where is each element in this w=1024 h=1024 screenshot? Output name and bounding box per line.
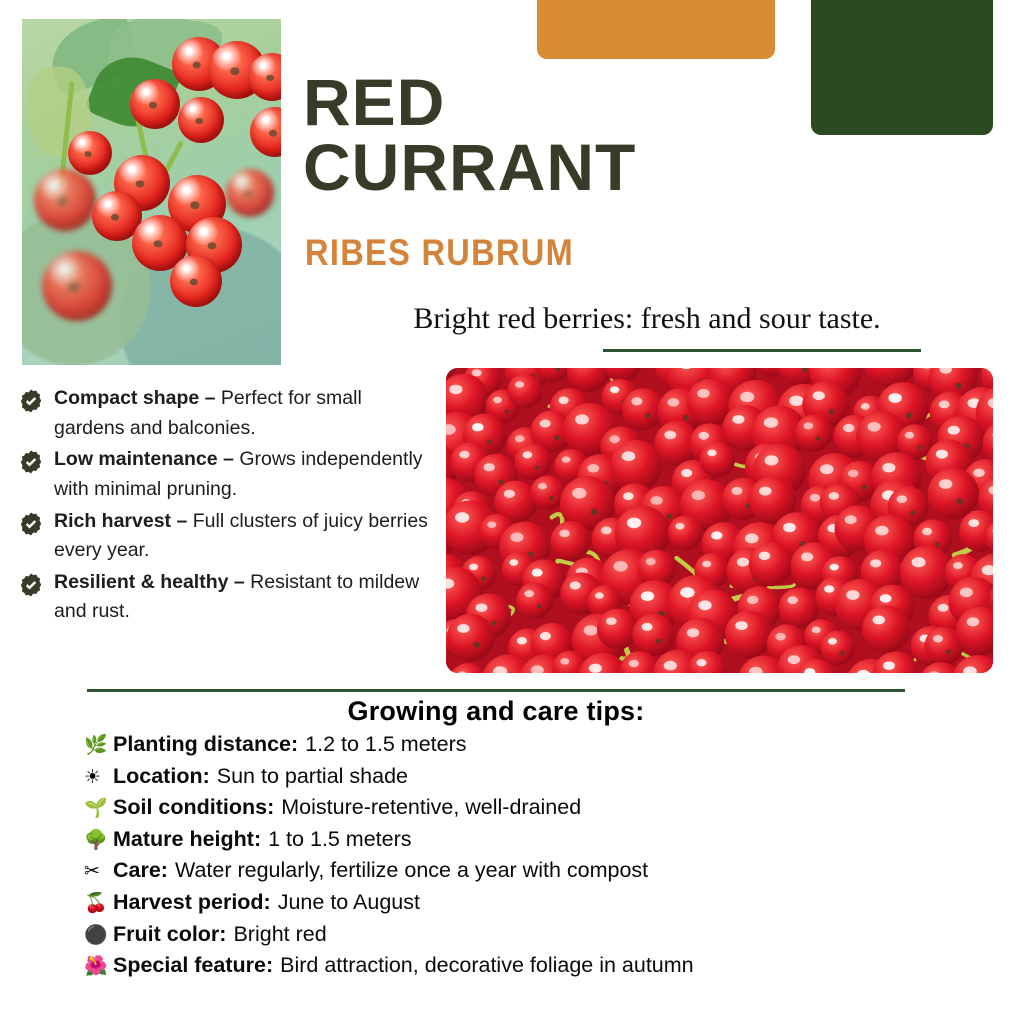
tips-divider [87,689,905,692]
tip-value: 1 to 1.5 meters [268,824,411,856]
benefit-label: Low maintenance [54,448,218,470]
check-badge-icon [18,449,44,475]
decorative-orange-block [537,0,775,59]
infographic-canvas: RED CURRANT RIBES RUBRUM Bright red berr… [0,0,1024,1024]
title-line-2: CURRANT [303,135,963,200]
hero-photo-currants-on-branch [22,19,281,365]
benefit-dash: – [223,448,234,470]
benefit-item: Low maintenance – Grows independently wi… [18,445,428,504]
tip-label: Harvest period: [113,887,271,919]
tip-value: Moisture-retentive, well-drained [281,792,581,824]
tree-icon: 🌳 [84,831,106,850]
sun-icon: ☀ [84,768,106,787]
scissors-icon: ✂ [84,862,106,881]
tip-row: 🌱Soil conditions:Moisture-retentive, wel… [84,792,984,824]
benefit-text: Rich harvest – Full clusters of juicy be… [18,507,428,566]
benefit-dash: – [205,387,216,409]
hibiscus-icon: 🌺 [84,957,106,976]
benefit-item: Rich harvest – Full clusters of juicy be… [18,507,428,566]
benefit-dash: – [176,510,187,532]
seedling-icon: 🌱 [84,799,106,818]
tip-row: ✂Care:Water regularly, fertilize once a … [84,855,984,887]
benefit-text: Compact shape – Perfect for small garden… [18,384,428,443]
tip-label: Special feature: [113,950,273,982]
tip-label: Care: [113,855,168,887]
check-badge-icon [18,511,44,537]
herb-icon: 🌿 [84,736,106,755]
tip-value: 1.2 to 1.5 meters [305,729,466,761]
tip-value: Sun to partial shade [217,761,408,793]
main-photo-harvested-currants [446,368,993,673]
tip-row: 🍒Harvest period:June to August [84,887,984,919]
tip-value: Bird attraction, decorative foliage in a… [280,950,694,982]
tip-value: Bright red [233,919,326,951]
berry-shape [42,251,112,321]
benefit-item: Resilient & healthy – Resistant to milde… [18,568,428,627]
benefit-label: Resilient & healthy [54,571,228,593]
tip-row: ☀Location:Sun to partial shade [84,761,984,793]
tip-value: Water regularly, fertilize once a year w… [175,855,648,887]
tagline-divider [603,349,921,352]
circle-icon: ⚫ [84,926,106,945]
benefit-text: Resilient & healthy – Resistant to milde… [18,568,428,627]
tip-row: ⚫Fruit color:Bright red [84,919,984,951]
benefit-label: Compact shape [54,387,199,409]
tip-label: Planting distance: [113,729,298,761]
tip-label: Location: [113,761,210,793]
cherries-icon: 🍒 [84,894,106,913]
check-badge-icon [18,388,44,414]
tips-heading: Growing and care tips: [87,696,905,727]
page-title: RED CURRANT [303,70,963,199]
tip-label: Soil conditions: [113,792,274,824]
tip-row: 🌿Planting distance:1.2 to 1.5 meters [84,729,984,761]
benefit-dash: – [234,571,245,593]
tip-row: 🌺Special feature:Bird attraction, decora… [84,950,984,982]
benefit-text: Low maintenance – Grows independently wi… [18,445,428,504]
title-line-1: RED [303,70,963,135]
botanical-name: RIBES RUBRUM [305,232,574,274]
benefit-item: Compact shape – Perfect for small garden… [18,384,428,443]
berry-shape [226,169,274,217]
tip-label: Fruit color: [113,919,226,951]
tips-list: 🌿Planting distance:1.2 to 1.5 meters☀Loc… [84,729,984,982]
berry-shape [130,79,180,129]
benefit-label: Rich harvest [54,510,171,532]
berry-shape [68,131,112,175]
berry-shape [178,97,224,143]
tagline: Bright red berries: fresh and sour taste… [300,302,994,336]
benefits-list: Compact shape – Perfect for small garden… [18,384,428,629]
berry-shape [34,169,96,231]
tip-value: June to August [278,887,420,919]
tip-label: Mature height: [113,824,261,856]
berry-shape [170,255,222,307]
check-badge-icon [18,572,44,598]
tip-row: 🌳Mature height:1 to 1.5 meters [84,824,984,856]
